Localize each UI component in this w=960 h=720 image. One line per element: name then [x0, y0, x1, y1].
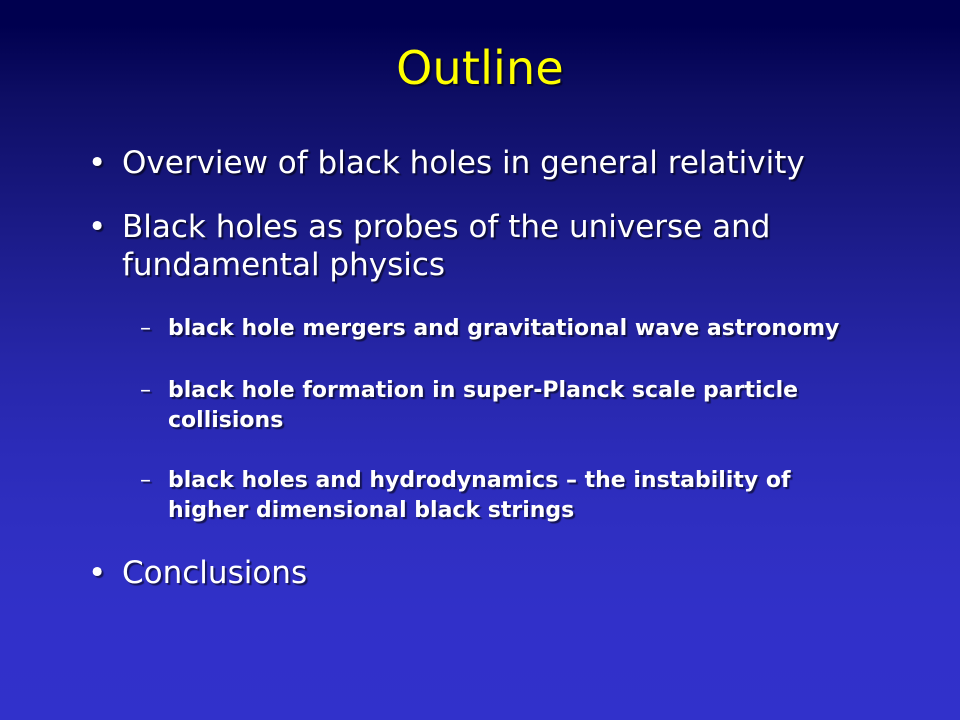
bullet-marker-icon: •: [88, 144, 122, 182]
sub-bullet-text: black holes and hydrodynamics – the inst…: [168, 466, 848, 526]
dash-marker-icon: –: [140, 376, 168, 406]
bullet-marker-icon: •: [88, 554, 122, 592]
slide-title-area: Outline: [0, 44, 960, 92]
sub-bullet-text: black hole formation in super-Planck sca…: [168, 376, 848, 436]
sub-bullet-text: black hole mergers and gravitational wav…: [168, 314, 848, 344]
bullet-text: Conclusions: [122, 554, 846, 592]
bullet-marker-icon: •: [88, 208, 122, 246]
bullet-item: • Overview of black holes in general rel…: [0, 144, 960, 182]
bullet-text: Overview of black holes in general relat…: [122, 144, 846, 182]
sub-bullet-item: – black holes and hydrodynamics – the in…: [0, 466, 960, 526]
bullet-text: Black holes as probes of the universe an…: [122, 208, 846, 284]
sub-bullet-item: – black hole mergers and gravitational w…: [0, 314, 960, 344]
dash-marker-icon: –: [140, 466, 168, 496]
page-title: Outline: [396, 44, 564, 92]
bullet-item: • Black holes as probes of the universe …: [0, 208, 960, 284]
bullet-item: • Conclusions: [0, 554, 960, 592]
presentation-slide: Outline • Overview of black holes in gen…: [0, 0, 960, 720]
dash-marker-icon: –: [140, 314, 168, 344]
sub-bullet-item: – black hole formation in super-Planck s…: [0, 376, 960, 436]
slide-body: • Overview of black holes in general rel…: [0, 144, 960, 618]
